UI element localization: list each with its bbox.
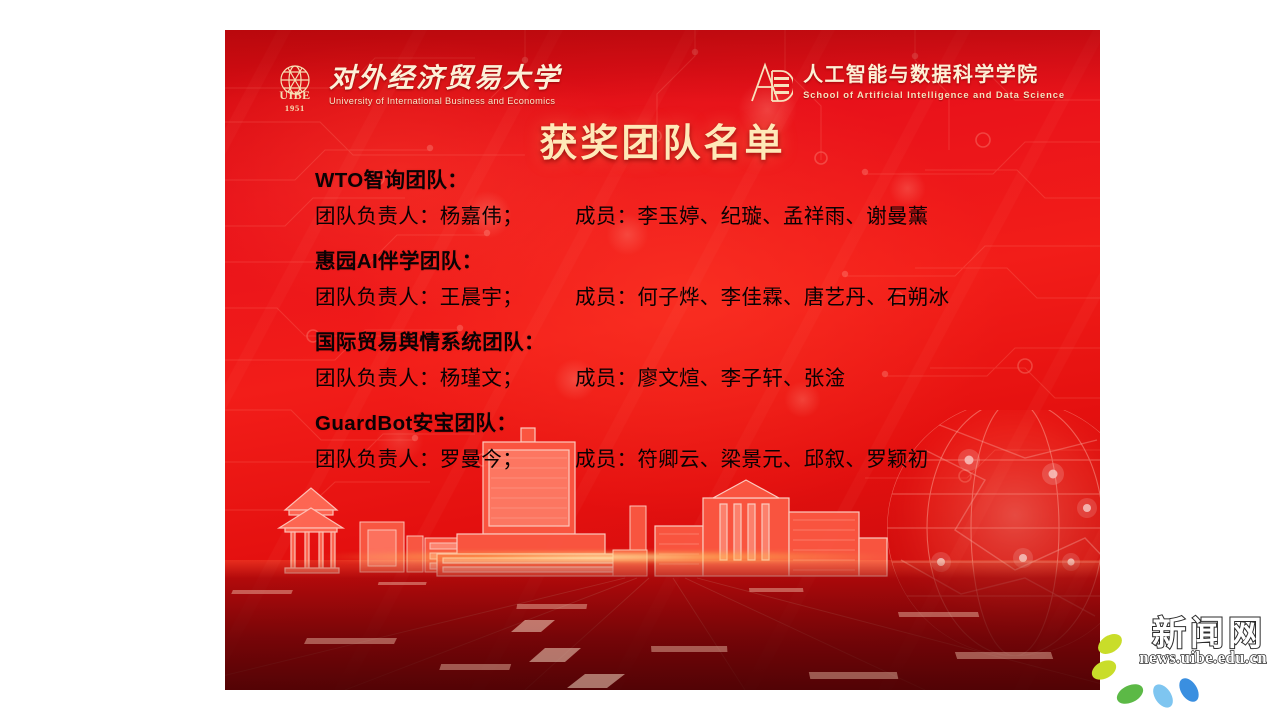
page-title: 获奖团队名单 xyxy=(225,112,1100,167)
team-members: 成员：廖文煊、李子轩、张淦 xyxy=(575,367,845,390)
award-team-list: WTO智询团队： 团队负责人：杨嘉伟；成员：李玉婷、纪璇、孟祥雨、谢曼薰 惠园A… xyxy=(315,163,1060,487)
uibe-emblem-icon: UIBE 1951 xyxy=(270,58,320,114)
aids-name-en: School of Artificial Intelligence and Da… xyxy=(803,90,1065,99)
aids-emblem-icon xyxy=(748,57,793,107)
team-leader: 团队负责人：杨瑾文； xyxy=(315,367,523,390)
team-block: GuardBot安宝团队： 团队负责人：罗曼今；成员：符卿云、梁景元、邱叙、罗颖… xyxy=(315,406,1060,477)
team-leader: 团队负责人：王晨宇； xyxy=(315,286,523,309)
svg-text:UIBE: UIBE xyxy=(279,88,310,102)
team-leader: 团队负责人：杨嘉伟； xyxy=(315,205,523,228)
screenshot-root: UIBE 1951 对外经济贸易大学 University of Interna… xyxy=(0,0,1280,720)
team-name: WTO智询团队： xyxy=(315,163,1060,198)
news-site-watermark: 新闻网 news.uibe.edu.cn xyxy=(1100,604,1272,712)
team-members: 成员：何子烨、李佳霖、唐艺丹、石朔冰 xyxy=(575,286,949,309)
watermark-url: news.uibe.edu.cn xyxy=(1139,648,1267,668)
team-block: 国际贸易舆情系统团队： 团队负责人：杨瑾文；成员：廖文煊、李子轩、张淦 xyxy=(315,325,1060,396)
team-detail: 团队负责人：杨嘉伟；成员：李玉婷、纪璇、孟祥雨、谢曼薰 xyxy=(315,198,1060,235)
team-name: GuardBot安宝团队： xyxy=(315,406,1060,441)
team-name: 惠园AI伴学团队： xyxy=(315,244,1060,279)
team-name: 国际贸易舆情系统团队： xyxy=(315,325,1060,360)
perspective-floor xyxy=(225,578,1100,690)
uibe-university-logo: UIBE 1951 对外经济贸易大学 University of Interna… xyxy=(270,58,561,114)
aids-name-cn: 人工智能与数据科学学院 xyxy=(803,65,1065,85)
team-block: 惠园AI伴学团队： 团队负责人：王晨宇；成员：何子烨、李佳霖、唐艺丹、石朔冰 xyxy=(315,244,1060,315)
presentation-slide: UIBE 1951 对外经济贸易大学 University of Interna… xyxy=(225,30,1100,690)
uibe-name-cn: 对外经济贸易大学 xyxy=(329,65,561,92)
team-detail: 团队负责人：罗曼今；成员：符卿云、梁景元、邱叙、罗颖初 xyxy=(315,441,1060,478)
horizon-glow xyxy=(295,552,1030,562)
aids-school-logo: 人工智能与数据科学学院 School of Artificial Intelli… xyxy=(748,57,1065,107)
uibe-name-en: University of International Business and… xyxy=(329,97,561,106)
team-block: WTO智询团队： 团队负责人：杨嘉伟；成员：李玉婷、纪璇、孟祥雨、谢曼薰 xyxy=(315,163,1060,234)
team-members: 成员：符卿云、梁景元、邱叙、罗颖初 xyxy=(575,448,929,471)
team-members: 成员：李玉婷、纪璇、孟祥雨、谢曼薰 xyxy=(575,205,929,228)
floor-plane xyxy=(225,560,1100,690)
team-detail: 团队负责人：杨瑾文；成员：廖文煊、李子轩、张淦 xyxy=(315,360,1060,397)
team-leader: 团队负责人：罗曼今； xyxy=(315,448,523,471)
team-detail: 团队负责人：王晨宇；成员：何子烨、李佳霖、唐艺丹、石朔冰 xyxy=(315,279,1060,316)
